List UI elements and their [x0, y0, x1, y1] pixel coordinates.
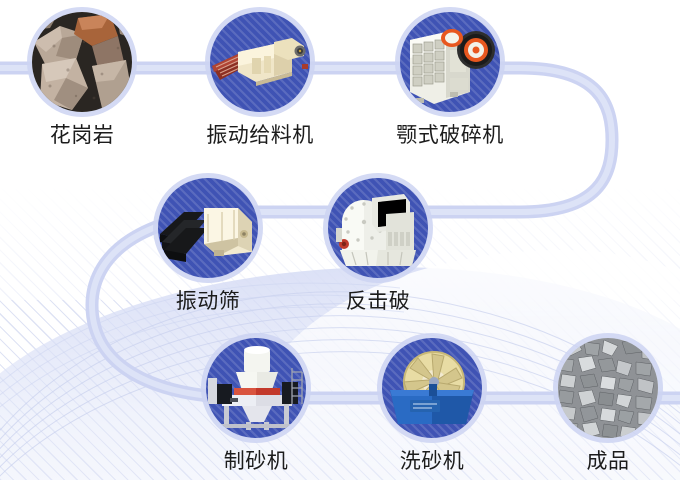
granite-rock-photo-circle: [32, 12, 132, 112]
flow-node-label: 振动给料机: [200, 125, 320, 146]
sand-washer-circle: [382, 338, 482, 438]
jaw-crusher-circle: [400, 12, 500, 112]
flow-node-label: 颚式破碎机: [390, 125, 510, 146]
flow-node-label: 花岗岩: [22, 125, 142, 146]
sand-washing-machine: [382, 338, 482, 438]
granite-rock-photo: [32, 12, 132, 112]
flow-node-granite[interactable]: 花岗岩: [22, 12, 142, 146]
flow-node-vibrating-feeder[interactable]: 振动给料机: [200, 12, 320, 146]
jaw-crusher-machine: [400, 12, 500, 112]
impact-crusher-circle: [328, 178, 428, 278]
impact-crusher-machine: [328, 178, 428, 278]
flow-node-impact-crusher[interactable]: 反击破: [318, 178, 438, 312]
flow-node-sand-maker[interactable]: 制砂机: [196, 338, 316, 472]
flow-node-label: 反击破: [318, 291, 438, 312]
flow-node-label: 洗砂机: [372, 451, 492, 472]
vibrating-feeder-circle: [210, 12, 310, 112]
sand-making-machine: [206, 338, 306, 438]
flow-node-jaw-crusher[interactable]: 颚式破碎机: [390, 12, 510, 146]
finished-product-circle: [558, 338, 658, 438]
sand-maker-circle: [206, 338, 306, 438]
flow-node-label: 成品: [548, 451, 668, 472]
flow-diagram-canvas: 花岗岩: [0, 0, 680, 480]
flow-node-label: 制砂机: [196, 451, 316, 472]
flow-node-sand-washer[interactable]: 洗砂机: [372, 338, 492, 472]
vibrating-feeder-machine: [210, 12, 310, 112]
vibrating-screen-machine: [158, 178, 258, 278]
flow-node-label: 振动筛: [148, 291, 268, 312]
finished-gravel-photo: [558, 338, 658, 438]
flow-node-vibrating-screen[interactable]: 振动筛: [148, 178, 268, 312]
flow-node-finished-product[interactable]: 成品: [548, 338, 668, 472]
vibrating-screen-circle: [158, 178, 258, 278]
